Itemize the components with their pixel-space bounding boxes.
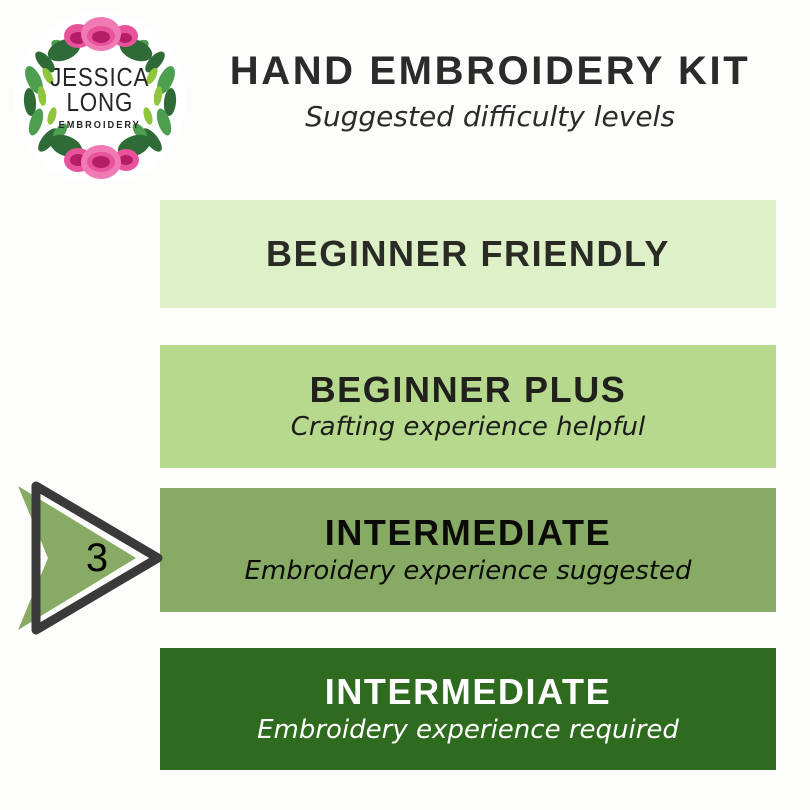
level-pointer-arrow: 3 bbox=[8, 478, 178, 638]
brand-logo: JESSICA LONG EMBROIDERY bbox=[12, 10, 188, 186]
page-title: HAND EMBROIDERY KIT bbox=[190, 50, 790, 92]
level-title: BEGINNER PLUS bbox=[310, 370, 627, 410]
level-title: INTERMEDIATE bbox=[325, 672, 612, 712]
level-band-intermediate-suggested: INTERMEDIATE Embroidery experience sugge… bbox=[160, 488, 776, 612]
difficulty-levels-infographic: JESSICA LONG EMBROIDERY HAND EMBROIDERY … bbox=[0, 0, 810, 810]
level-band-intermediate-required: INTERMEDIATE Embroidery experience requi… bbox=[160, 648, 776, 770]
page-subtitle: Suggested difficulty levels bbox=[190, 100, 790, 133]
level-band-beginner-plus: BEGINNER PLUS Crafting experience helpfu… bbox=[160, 345, 776, 468]
level-title: INTERMEDIATE bbox=[325, 513, 612, 553]
wreath-icon bbox=[12, 10, 188, 186]
header: HAND EMBROIDERY KIT Suggested difficulty… bbox=[190, 50, 790, 133]
level-band-beginner-friendly: BEGINNER FRIENDLY bbox=[160, 200, 776, 308]
level-subtitle: Crafting experience helpful bbox=[291, 413, 645, 443]
level-subtitle: Embroidery experience required bbox=[257, 716, 679, 746]
level-title: BEGINNER FRIENDLY bbox=[266, 234, 670, 274]
level-subtitle: Embroidery experience suggested bbox=[244, 557, 691, 587]
